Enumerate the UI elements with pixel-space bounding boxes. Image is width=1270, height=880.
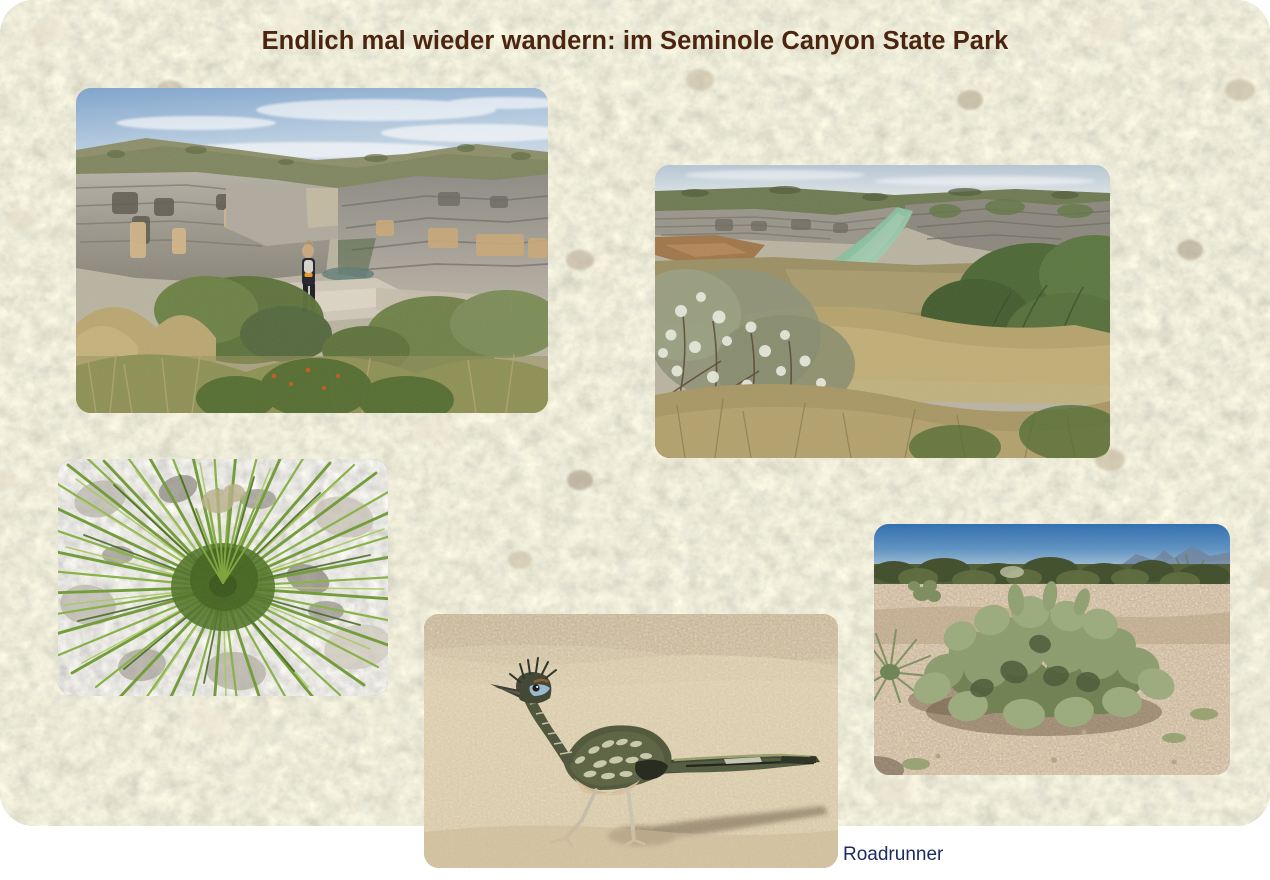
photo-cactus[interactable] <box>874 524 1230 775</box>
page-title: Endlich mal wieder wandern: im Seminole … <box>0 27 1270 56</box>
photo-sotol-plant[interactable] <box>58 459 388 696</box>
photo-canyon-hiker[interactable] <box>76 88 548 413</box>
photo-river-canyon[interactable] <box>655 165 1110 458</box>
photo-roadrunner-image <box>424 614 838 868</box>
caption-roadrunner: Roadrunner <box>843 844 943 866</box>
photo-roadrunner[interactable] <box>424 614 838 868</box>
photo-cactus-image <box>874 524 1230 775</box>
photo-canyon-hiker-image <box>76 88 548 413</box>
photo-sotol-plant-image <box>58 459 388 696</box>
photo-river-canyon-image <box>655 165 1110 458</box>
